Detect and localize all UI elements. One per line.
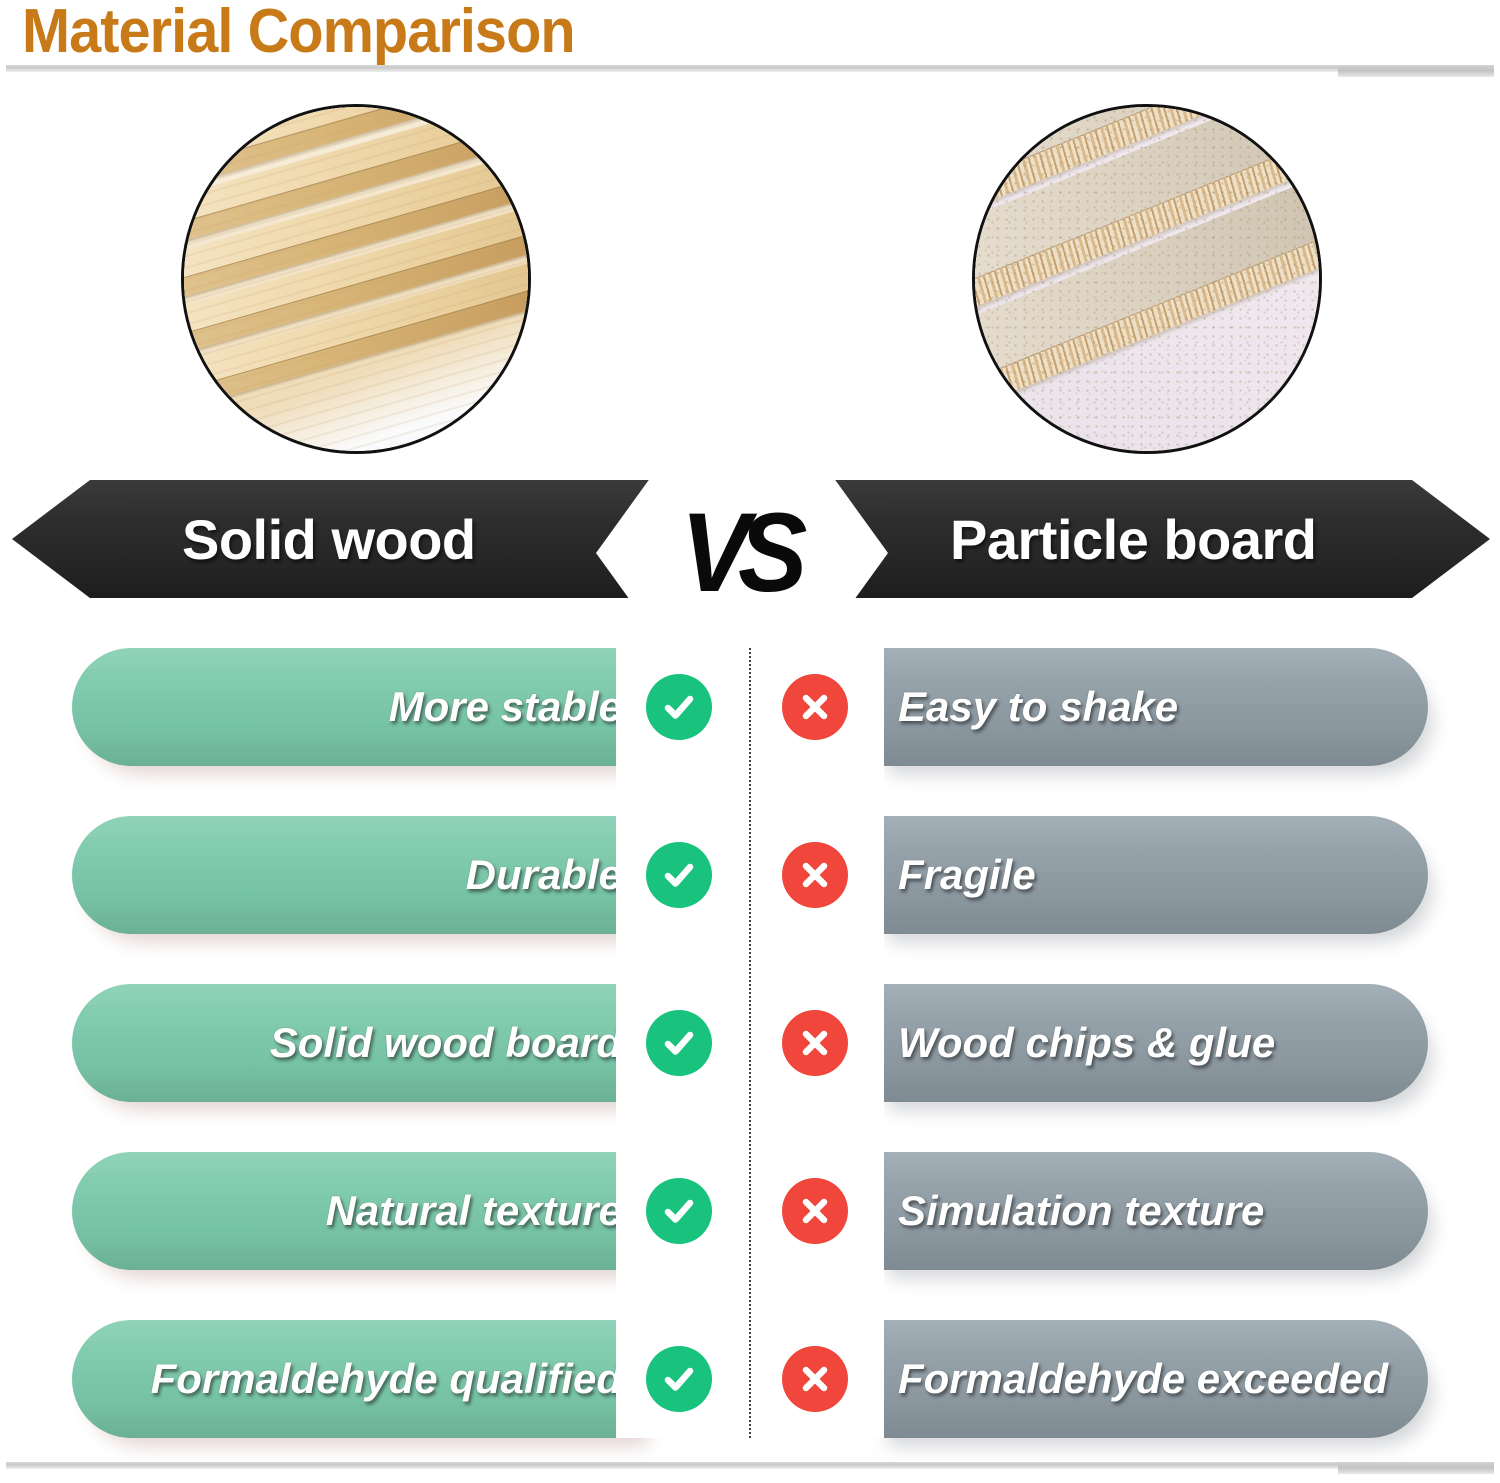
vs-label: VS xyxy=(681,489,804,618)
particle-board-banner: Particle board xyxy=(790,480,1490,598)
page-title: Material Comparison xyxy=(22,0,575,67)
check-icon xyxy=(646,842,712,908)
particle-board-photo-content xyxy=(975,107,1319,451)
solid-wood-feature-label: Durable xyxy=(466,851,622,899)
check-icon xyxy=(646,674,712,740)
header-divider-cap xyxy=(1338,65,1494,77)
check-icon xyxy=(646,1010,712,1076)
solid-wood-feature-label: More stable xyxy=(389,683,622,731)
particle-board-banner-label: Particle board xyxy=(950,507,1316,572)
solid-wood-photo-content xyxy=(184,107,528,451)
solid-wood-feature-pill: Formaldehyde qualified xyxy=(72,1320,644,1438)
particle-board-feature-label: Fragile xyxy=(898,851,1036,899)
particle-board-feature-label: Wood chips & glue xyxy=(898,1019,1275,1067)
versus-banner: Solid wood Particle board VS xyxy=(0,470,1500,630)
solid-wood-feature-pill: Durable xyxy=(72,816,644,934)
wood-grain-texture xyxy=(184,107,528,451)
comparison-table: More stable Easy to shake Durable Fragil… xyxy=(0,648,1500,1438)
particle-board-feature-pill: Formaldehyde exceeded xyxy=(872,1320,1428,1438)
header-divider xyxy=(0,63,1500,75)
cross-icon xyxy=(782,674,848,740)
solid-wood-feature-pill: Solid wood board xyxy=(72,984,644,1102)
solid-wood-feature-label: Natural texture xyxy=(326,1187,622,1235)
solid-wood-banner-label: Solid wood xyxy=(182,507,476,572)
particle-board-feature-label: Easy to shake xyxy=(898,683,1178,731)
cross-icon xyxy=(782,1178,848,1244)
check-icon xyxy=(646,1346,712,1412)
solid-wood-feature-label: Formaldehyde qualified xyxy=(151,1355,622,1403)
particle-board-feature-label: Simulation texture xyxy=(898,1187,1264,1235)
particle-board-feature-pill: Fragile xyxy=(872,816,1428,934)
solid-wood-feature-pill: Natural texture xyxy=(72,1152,644,1270)
cross-icon xyxy=(782,842,848,908)
cross-icon xyxy=(782,1010,848,1076)
solid-wood-photo xyxy=(181,104,531,454)
center-divider xyxy=(749,648,751,1438)
check-icon xyxy=(646,1178,712,1244)
particle-board-feature-pill: Wood chips & glue xyxy=(872,984,1428,1102)
footer-divider-bar xyxy=(6,1462,1494,1469)
solid-wood-feature-label: Solid wood board xyxy=(270,1019,622,1067)
vs-hexagon: VS xyxy=(596,470,888,636)
footer-divider xyxy=(0,1460,1500,1472)
cross-icon xyxy=(782,1346,848,1412)
particle-board-feature-pill: Simulation texture xyxy=(872,1152,1428,1270)
header-divider-bar xyxy=(6,65,1494,72)
particle-board-feature-pill: Easy to shake xyxy=(872,648,1428,766)
footer-divider-cap xyxy=(1338,1462,1494,1474)
particle-board-feature-label: Formaldehyde exceeded xyxy=(898,1355,1388,1403)
particle-board-photo xyxy=(972,104,1322,454)
solid-wood-feature-pill: More stable xyxy=(72,648,644,766)
particle-chip-texture xyxy=(975,107,1319,451)
